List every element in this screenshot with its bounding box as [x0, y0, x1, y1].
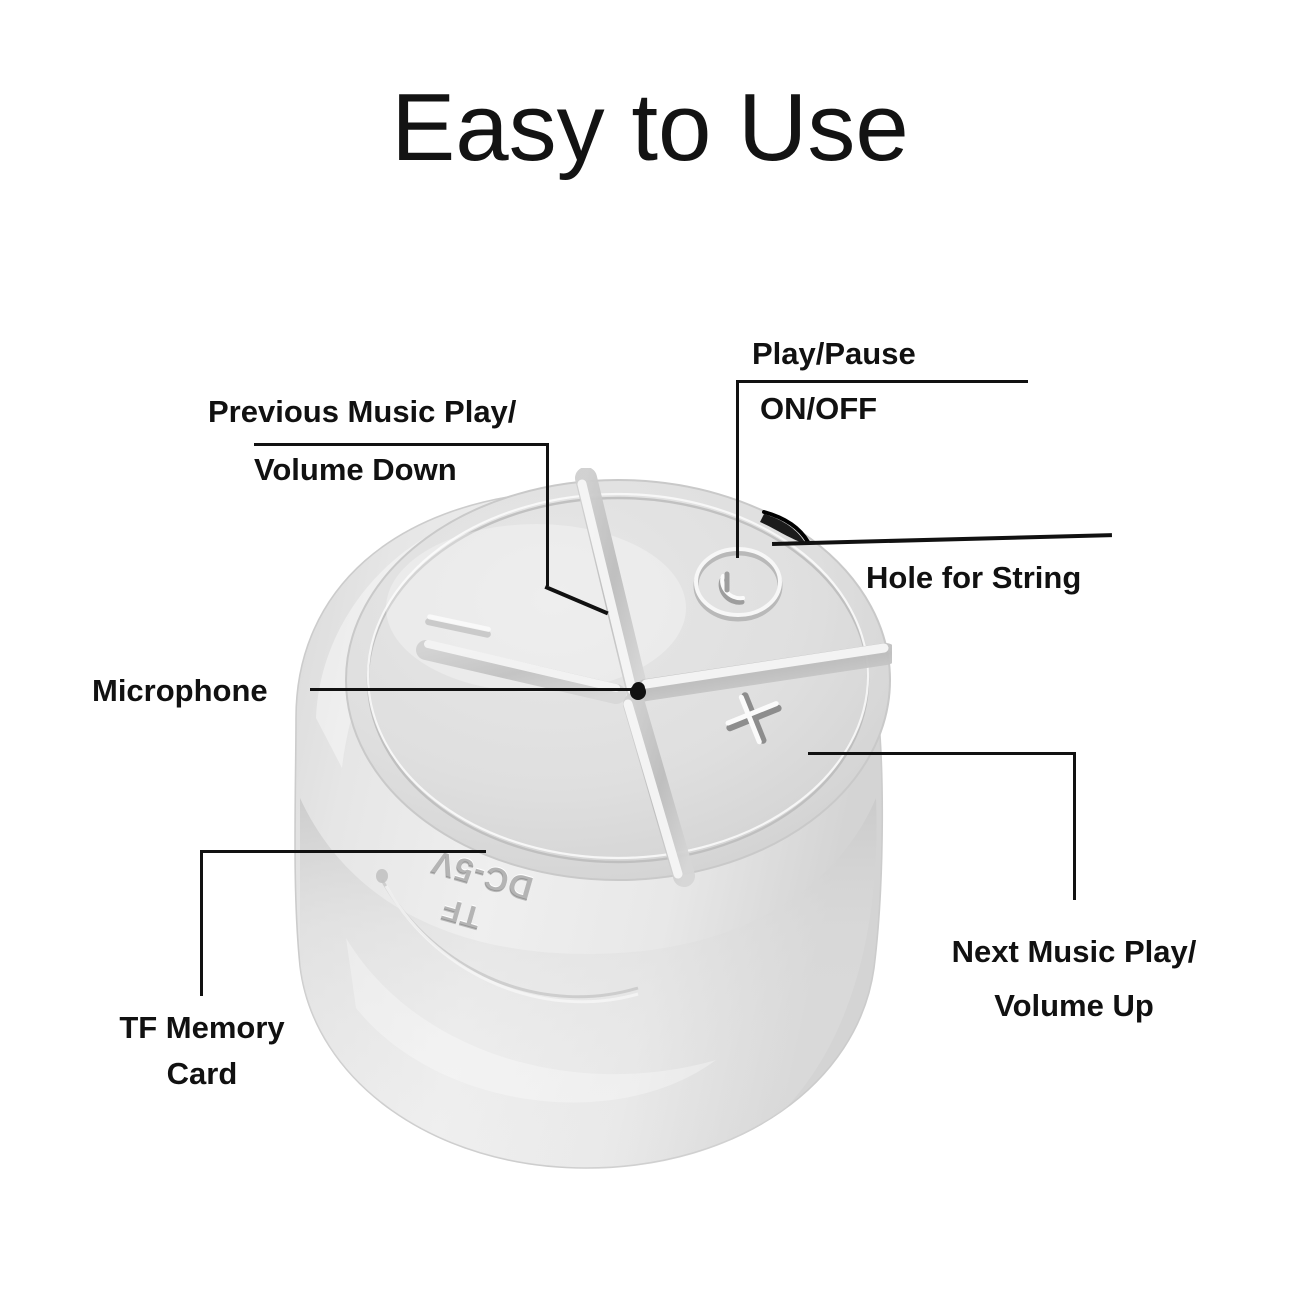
leader-tf-card-vertical — [200, 850, 203, 996]
callout-play-pause-underline — [736, 380, 1028, 383]
leader-next-music-horizontal — [808, 752, 1076, 755]
page-title: Easy to Use — [0, 78, 1300, 179]
callout-previous-music-play-line1: Previous Music Play/ — [208, 392, 516, 432]
callout-next-music-play-line2: Volume Up — [900, 986, 1248, 1026]
leader-next-music-vertical — [1073, 752, 1076, 900]
callout-next-music-play-line1: Next Music Play/ — [900, 932, 1248, 972]
callout-microphone: Microphone — [92, 671, 268, 711]
callout-tf-memory-card-line1: TF Memory — [62, 1008, 342, 1048]
leader-microphone — [310, 688, 640, 691]
callout-tf-memory-card-line2: Card — [62, 1054, 342, 1094]
callout-play-pause-line1: Play/Pause — [752, 334, 916, 374]
callout-previous-music-play-line2: Volume Down — [254, 450, 457, 490]
microphone-pinhole-marker — [632, 682, 645, 695]
leader-play-pause-vertical — [736, 380, 739, 558]
callout-previous-underline — [254, 443, 547, 446]
leader-previous-vertical — [546, 443, 549, 586]
speaker-illustration — [286, 468, 892, 1180]
callout-play-pause-line2: ON/OFF — [760, 389, 877, 429]
product-diagram-page: Easy to Use — [0, 0, 1300, 1300]
callout-hole-for-string: Hole for String — [866, 558, 1081, 598]
leader-tf-card-horizontal — [200, 850, 486, 853]
